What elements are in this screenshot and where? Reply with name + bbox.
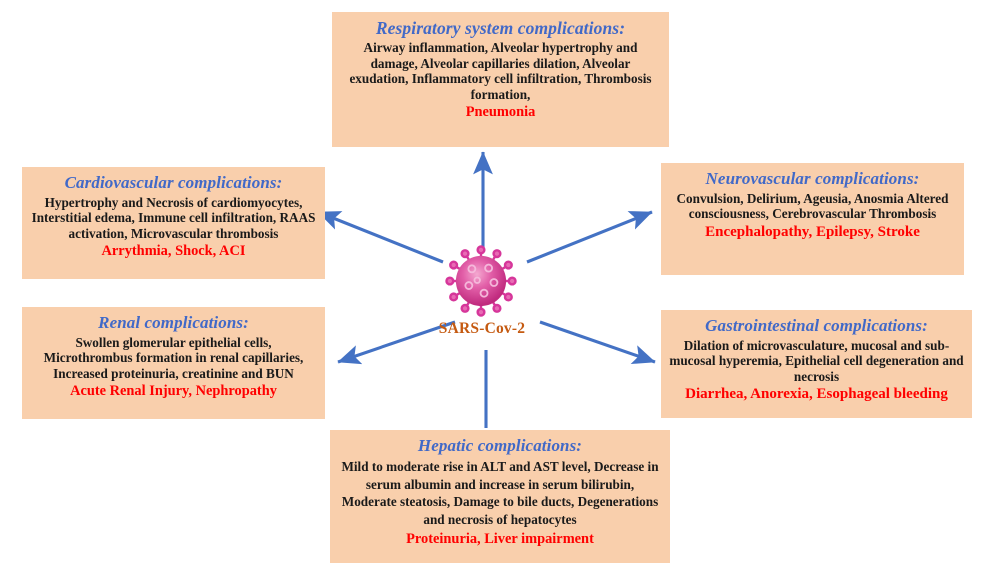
arrow-to-neurovascular	[527, 212, 652, 262]
cardiovascular-title: Cardiovascular complications:	[30, 173, 317, 193]
neurovascular-body: Convulsion, Delirium, Ageusia, Anosmia A…	[669, 191, 956, 222]
renal-title: Renal complications:	[30, 313, 317, 333]
respiratory-complications-box[interactable]: Respiratory system complications: Airway…	[332, 12, 669, 147]
renal-complications-box[interactable]: Renal complications: Swollen glomerular …	[22, 307, 325, 419]
cardiovascular-body: Hypertrophy and Necrosis of cardiomyocyt…	[30, 195, 317, 241]
respiratory-body: Airway inflammation, Alveolar hypertroph…	[340, 40, 661, 102]
gastrointestinal-title: Gastrointestinal complications:	[669, 316, 964, 336]
respiratory-outcome: Pneumonia	[340, 104, 661, 121]
neurovascular-title: Neurovascular complications:	[669, 169, 956, 189]
renal-body: Swollen glomerular epithelial cells, Mic…	[30, 335, 317, 381]
diagram-canvas: SARS-Cov-2 Respiratory system complicati…	[0, 0, 988, 581]
hepatic-body: Mild to moderate rise in ALT and AST lev…	[338, 458, 662, 529]
hepatic-outcome: Proteinuria, Liver impairment	[338, 531, 662, 548]
neurovascular-outcome: Encephalopathy, Epilepsy, Stroke	[669, 224, 956, 242]
cardiovascular-complications-box[interactable]: Cardiovascular complications: Hypertroph…	[22, 167, 325, 279]
hepatic-complications-box[interactable]: Hepatic complications: Mild to moderate …	[330, 430, 670, 563]
gastrointestinal-complications-box[interactable]: Gastrointestinal complications: Dilation…	[661, 310, 972, 418]
gastrointestinal-body: Dilation of microvasculature, mucosal an…	[669, 338, 964, 384]
renal-outcome: Acute Renal Injury, Nephropathy	[30, 383, 317, 400]
respiratory-title: Respiratory system complications:	[340, 18, 661, 38]
hepatic-title: Hepatic complications:	[338, 436, 662, 456]
gastrointestinal-outcome: Diarrhea, Anorexia, Esophageal bleeding	[669, 386, 964, 404]
coronavirus-particle-icon	[443, 243, 519, 319]
neurovascular-complications-box[interactable]: Neurovascular complications: Convulsion,…	[661, 163, 964, 275]
arrow-to-cardiovascular	[318, 212, 443, 262]
virus-label: SARS-Cov-2	[412, 320, 552, 338]
cardiovascular-outcome: Arrythmia, Shock, ACI	[30, 243, 317, 260]
arrow-to-gastrointestinal	[540, 322, 655, 362]
